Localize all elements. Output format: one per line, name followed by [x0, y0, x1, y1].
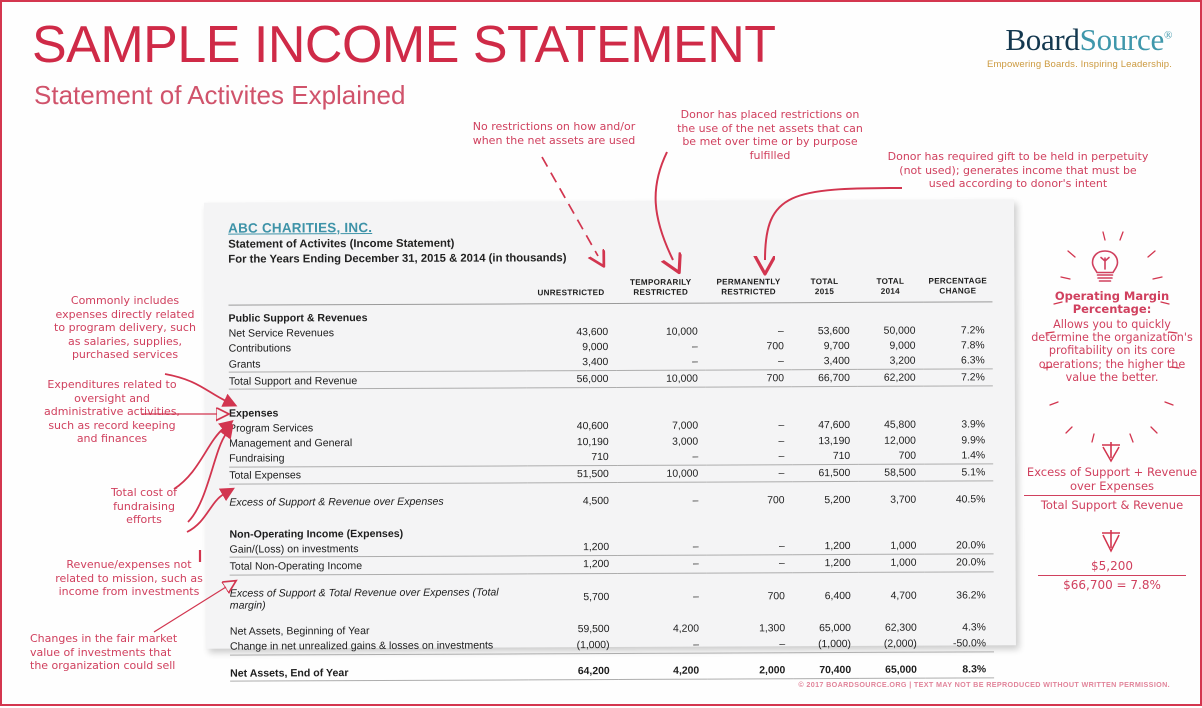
row-value-5: 58,500	[858, 464, 924, 481]
row-value-4: 1,200	[793, 539, 859, 555]
row-value-6: -50.0%	[925, 636, 994, 652]
row-value-1: 59,500	[527, 622, 617, 638]
row-value-4: 6,400	[793, 583, 859, 610]
table-header: UNRESTRICTEDTEMPORARILYRESTRICTEDPERMANE…	[228, 276, 992, 305]
row-value-5	[858, 481, 924, 492]
row-label: Total Support and Revenue	[229, 371, 527, 389]
row-value-3: 1,300	[707, 621, 793, 637]
formula-denominator: Total Support & Revenue	[1024, 495, 1200, 512]
row-value-6: 7.2%	[924, 369, 993, 386]
row-value-4	[793, 519, 859, 540]
row-value-2	[617, 519, 707, 540]
row-value-2: –	[617, 637, 707, 653]
row-value-4	[793, 508, 859, 519]
row-value-4: 65,000	[793, 621, 859, 636]
logo-wordmark: BoardSource®	[987, 22, 1172, 58]
row-value-2: –	[617, 449, 707, 465]
row-value-6	[924, 481, 993, 492]
row-value-3	[706, 482, 792, 493]
row-value-5: (2,000)	[859, 636, 925, 652]
row-value-3: –	[707, 637, 793, 653]
annotation-temporarily-restricted: Donor has placed restrictions on the use…	[670, 108, 870, 162]
operating-margin-body: Allows you to quickly determine the orga…	[1026, 318, 1198, 384]
row-value-1	[526, 388, 616, 399]
row-label: Change in net unrealized gains & losses …	[230, 638, 528, 655]
row-value-4	[792, 387, 858, 398]
operating-margin-formula: Excess of Support + Revenue over Expense…	[1024, 465, 1200, 512]
row-value-3	[707, 519, 793, 540]
row-value-5	[858, 518, 924, 539]
row-value-5	[859, 610, 925, 621]
row-value-1: 40,600	[527, 419, 617, 435]
row-value-2: –	[617, 493, 707, 509]
row-value-1	[527, 573, 617, 584]
row-value-6: 3.9%	[924, 418, 993, 433]
logo-word-source: Source	[1080, 22, 1164, 57]
row-value-4	[793, 610, 859, 621]
row-value-1: 5,700	[527, 584, 617, 612]
row-label: Fundraising	[229, 450, 527, 467]
row-value-6: 9.9%	[924, 433, 993, 448]
row-value-5: 3,200	[858, 354, 924, 370]
row-value-2	[617, 482, 707, 493]
row-value-5	[858, 302, 924, 323]
row-value-3	[707, 652, 793, 663]
row-value-6	[925, 651, 994, 662]
column-header-2: TEMPORARILYRESTRICTED	[616, 278, 706, 304]
row-label: Gain/(Loss) on investments	[230, 541, 528, 558]
value-denominator: $66,700 = 7.8%	[1038, 575, 1186, 593]
row-label: Contributions	[229, 340, 527, 356]
row-value-6: 8.3%	[925, 662, 994, 678]
column-header-3: PERMANENTLYRESTRICTED	[705, 277, 791, 303]
organization-name: ABC CHARITIES, INC.	[228, 217, 992, 235]
row-value-4: 710	[792, 449, 858, 465]
row-value-4: 5,200	[793, 492, 859, 507]
row-value-1	[527, 482, 617, 493]
row-value-5: 62,300	[859, 621, 925, 636]
row-value-2: –	[617, 584, 707, 612]
row-value-6: 6.3%	[924, 353, 993, 369]
row-value-4: 47,600	[792, 418, 858, 433]
row-value-3: –	[706, 449, 792, 465]
logo-word-board: Board	[1005, 22, 1079, 57]
row-value-1: 43,600	[526, 325, 616, 341]
row-value-6: 20.0%	[924, 554, 993, 571]
row-value-5: 50,000	[858, 323, 924, 338]
row-value-6	[924, 386, 993, 397]
row-value-2	[616, 387, 706, 398]
row-value-3: 700	[707, 583, 793, 611]
row-value-6	[924, 507, 993, 518]
row-value-3: –	[707, 555, 793, 572]
row-value-5	[859, 572, 925, 583]
row-value-1: 710	[527, 450, 617, 466]
row-value-2	[617, 611, 707, 622]
row-value-1	[527, 520, 617, 541]
column-header-5: TOTAL2014	[857, 277, 923, 303]
row-label: Total Expenses	[229, 466, 527, 484]
row-value-6: 1.4%	[924, 448, 993, 464]
row-value-5	[859, 652, 925, 663]
row-value-5: 4,700	[859, 583, 925, 610]
row-value-4: 9,700	[792, 339, 858, 354]
value-numerator: $5,200	[1038, 559, 1186, 574]
row-value-2	[617, 508, 707, 519]
row-value-3	[706, 387, 792, 398]
row-value-3: –	[707, 539, 793, 555]
row-value-6: 5.1%	[924, 464, 993, 481]
row-value-4: (1,000)	[793, 636, 859, 652]
row-value-1	[527, 611, 617, 622]
row-label: Net Assets, Beginning of Year	[230, 623, 528, 639]
row-value-3: –	[706, 465, 792, 482]
annotation-permanently-restricted: Donor has required gift to be held in pe…	[887, 150, 1149, 191]
row-value-2: 10,000	[617, 465, 707, 482]
row-value-3: 700	[706, 493, 792, 509]
row-label: Public Support & Revenues	[228, 304, 526, 326]
column-header-4: TOTAL2015	[792, 277, 858, 303]
row-value-2	[616, 303, 706, 324]
row-value-1	[527, 509, 617, 520]
statement-line-2: Statement of Activites (Income Statement…	[228, 235, 992, 250]
row-label: Non-Operating Income (Expenses)	[229, 520, 527, 542]
row-value-6	[924, 518, 993, 539]
row-value-2	[617, 573, 707, 584]
row-value-4: 13,190	[792, 433, 858, 448]
row-value-2: 7,000	[617, 419, 707, 435]
annotation-non-operating-income: Revenue/expenses not related to mission,…	[54, 558, 204, 599]
copyright-footer: © 2017 BOARDSOURCE.ORG | TEXT MAY NOT BE…	[798, 680, 1170, 689]
row-value-6: 4.3%	[925, 621, 994, 636]
income-statement-card: ABC CHARITIES, INC. Statement of Activit…	[204, 199, 1016, 649]
row-value-1: 56,000	[526, 371, 616, 388]
operating-margin-title: Operating Margin Percentage:	[1028, 290, 1196, 316]
row-value-3	[707, 572, 793, 583]
annotation-management-general: Expenditures related to oversight and ad…	[42, 378, 182, 446]
row-value-2: –	[617, 540, 707, 556]
row-value-3: –	[706, 434, 792, 450]
table-row: Net Assets, End of Year64,2004,2002,0007…	[230, 662, 994, 681]
annotation-program-services: Commonly includes expenses directly rela…	[50, 294, 200, 362]
row-value-3	[707, 610, 793, 621]
operating-margin-value: $5,200 $66,700 = 7.8%	[1038, 559, 1186, 593]
row-label: Total Non-Operating Income	[230, 556, 528, 574]
row-value-6: 7.8%	[923, 338, 992, 353]
row-value-3: –	[706, 354, 792, 370]
row-value-3: 2,000	[707, 663, 793, 679]
row-value-3: 700	[706, 370, 792, 387]
annotation-fundraising: Total cost of fundraising efforts	[94, 486, 194, 527]
row-value-4: 1,200	[793, 555, 859, 572]
row-value-2: 4,200	[617, 622, 707, 638]
row-value-5	[858, 386, 924, 397]
row-value-6: 36.2%	[925, 582, 994, 609]
row-value-4	[792, 398, 858, 419]
row-label: Net Service Revenues	[229, 325, 527, 341]
row-label: Excess of Support & Total Revenue over E…	[230, 584, 528, 612]
income-statement-table: UNRESTRICTEDTEMPORARILYRESTRICTEDPERMANE…	[228, 276, 994, 682]
statement-line-3: For the Years Ending December 31, 2015 &…	[228, 250, 992, 265]
row-value-1: 3,400	[526, 355, 616, 371]
row-value-1: 4,500	[527, 493, 617, 509]
row-value-1: 10,190	[527, 435, 617, 451]
table-body: Public Support & RevenuesNet Service Rev…	[228, 302, 994, 682]
row-value-2: –	[616, 339, 706, 355]
row-value-3	[706, 303, 792, 324]
row-value-3	[706, 398, 792, 419]
row-value-3: 700	[706, 339, 792, 355]
row-value-1: 1,200	[527, 540, 617, 556]
row-value-4: 3,400	[792, 354, 858, 370]
row-value-5: 1,000	[859, 555, 925, 572]
page-subtitle: Statement of Activites Explained	[34, 80, 405, 111]
row-value-2	[616, 398, 706, 419]
row-value-5: 12,000	[858, 433, 924, 448]
row-label: Grants	[229, 355, 527, 372]
column-header-6: PERCENTAGECHANGE	[923, 276, 992, 302]
row-value-1	[526, 303, 616, 324]
boardsource-logo: BoardSource® Empowering Boards. Inspirin…	[987, 22, 1172, 70]
row-value-1	[528, 653, 618, 664]
row-value-4: 70,400	[793, 663, 859, 679]
row-value-4	[793, 572, 859, 583]
row-value-5: 3,700	[858, 492, 924, 507]
row-value-5: 65,000	[859, 663, 925, 679]
formula-numerator: Excess of Support + Revenue over Expense…	[1024, 465, 1200, 493]
row-label: Program Services	[229, 420, 527, 436]
row-value-6	[923, 302, 992, 323]
row-value-2: –	[616, 355, 706, 371]
row-value-5: 62,200	[858, 369, 924, 386]
row-value-2: –	[617, 556, 707, 573]
row-value-6	[925, 610, 994, 621]
row-value-5: 1,000	[859, 539, 925, 555]
row-value-2: 10,000	[616, 370, 706, 387]
row-label: Net Assets, End of Year	[230, 664, 528, 681]
row-label: Excess of Support & Revenue over Expense…	[229, 494, 527, 510]
logo-tagline: Empowering Boards. Inspiring Leadership.	[987, 59, 1172, 70]
registered-trademark-icon: ®	[1164, 30, 1172, 42]
row-value-5	[858, 507, 924, 518]
table-row: Excess of Support & Total Revenue over E…	[230, 582, 994, 613]
row-value-5: 700	[858, 448, 924, 464]
annotation-unrealized-gains: Changes in the fair market value of inve…	[30, 632, 188, 673]
row-value-4	[792, 302, 858, 323]
row-value-2: 4,200	[618, 664, 708, 680]
row-value-2	[618, 653, 708, 664]
row-value-4: 66,700	[792, 370, 858, 387]
row-value-4: 53,600	[792, 324, 858, 339]
row-value-5	[858, 397, 924, 418]
page-title: SAMPLE INCOME STATEMENT	[32, 18, 776, 72]
row-value-1: 9,000	[526, 340, 616, 356]
row-value-4	[793, 652, 859, 663]
column-header-label	[228, 278, 526, 305]
row-value-1	[526, 399, 616, 420]
row-value-1: 51,500	[527, 465, 617, 482]
row-value-5: 9,000	[858, 338, 924, 353]
row-value-2: 10,000	[616, 324, 706, 340]
row-value-6: 7.2%	[923, 323, 992, 338]
column-header-1: UNRESTRICTED	[526, 278, 616, 304]
row-value-5: 45,800	[858, 418, 924, 433]
row-value-3: –	[706, 419, 792, 435]
row-value-1: (1,000)	[527, 637, 617, 653]
row-label: Expenses	[229, 399, 527, 421]
row-value-4: 61,500	[792, 464, 858, 481]
row-label: Management and General	[229, 435, 527, 451]
row-value-2: 3,000	[617, 434, 707, 450]
annotation-unrestricted: No restrictions on how and/or when the n…	[464, 120, 644, 147]
row-value-6: 40.5%	[924, 492, 993, 507]
row-value-6: 20.0%	[924, 539, 993, 555]
row-value-6	[925, 571, 994, 582]
row-value-3	[706, 508, 792, 519]
row-value-1: 1,200	[527, 556, 617, 573]
row-value-4	[792, 481, 858, 492]
poster-page: SAMPLE INCOME STATEMENT Statement of Act…	[0, 0, 1202, 706]
row-value-3: –	[706, 324, 792, 340]
row-value-6	[924, 397, 993, 418]
row-value-1: 64,200	[528, 664, 618, 680]
